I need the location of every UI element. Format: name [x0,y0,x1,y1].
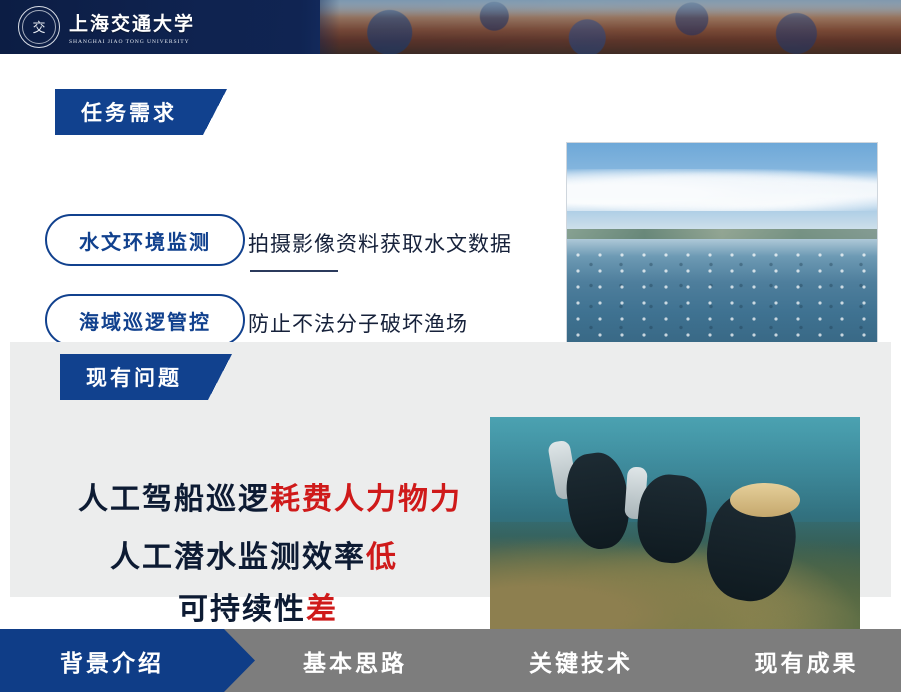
sea-surface-clouds [567,169,877,211]
banner-existing-issues: 现有问题 [60,354,232,400]
footer-step-1-label: 背景介绍 [60,644,164,678]
university-logo: 交 上海交通大学 SHANGHAI JIAO TONG UNIVERSITY [18,6,195,48]
chevron-right-icon-3 [694,629,725,692]
issue-line-1-normal: 人工驾船巡逻 [78,482,270,517]
banner-task-tail-icon [203,89,227,135]
chevron-right-icon-2 [468,629,499,692]
banner-issues-label: 现有问题 [60,354,208,400]
issue-line-2: 人工潜水监测效率低 [110,532,398,576]
desc-divider-1 [250,270,338,272]
slide-header: 交 上海交通大学 SHANGHAI JIAO TONG UNIVERSITY [0,0,901,54]
university-name-cn: 上海交通大学 [69,9,195,36]
seal-glyph: 交 [32,21,45,34]
issue-line-2-highlight: 低 [366,540,398,575]
issue-line-1-highlight: 耗费人力物力 [270,482,462,517]
header-background-photo [320,0,901,54]
university-name-block: 上海交通大学 SHANGHAI JIAO TONG UNIVERSITY [69,9,195,45]
university-name-en: SHANGHAI JIAO TONG UNIVERSITY [69,39,195,45]
desc-sea-patrol: 防止不法分子破坏渔场 [248,308,468,338]
issue-line-1: 人工驾船巡逻耗费人力物力 [78,474,462,518]
footer-step-2-label: 基本思路 [303,644,407,678]
pill-sea-patrol-label: 海域巡逻管控 [79,306,211,335]
slide-body: 任务需求 水文环境监测 拍摄影像资料获取水文数据 海域巡逻管控 防止不法分子破坏… [0,54,901,629]
footer-step-background[interactable]: 背景介绍 [0,629,224,692]
issue-line-3-normal: 可持续性 [178,592,306,627]
issue-line-3: 可持续性差 [178,584,338,628]
banner-task-requirements: 任务需求 [55,89,227,135]
footer-navigation: 背景介绍 基本思路 关键技术 现有成果 [0,629,901,692]
pill-hydrology-label: 水文环境监测 [79,226,211,255]
image-divers-underwater [490,417,860,635]
chevron-right-icon-1 [224,629,255,692]
image-sea-surface [566,142,878,362]
footer-step-approach[interactable]: 基本思路 [224,629,468,692]
footer-step-3-label: 关键技术 [529,644,633,678]
issue-line-2-normal: 人工潜水监测效率 [110,540,366,575]
footer-step-4-label: 现有成果 [755,644,859,678]
desc-hydrology-monitoring: 拍摄影像资料获取水文数据 [248,228,512,258]
sea-surface-shoreline [567,229,877,239]
issue-line-3-highlight: 差 [306,592,338,627]
banner-task-label: 任务需求 [55,89,203,135]
pill-hydrology-monitoring: 水文环境监测 [45,214,245,266]
banner-issues-tail-icon [208,354,232,400]
pill-sea-patrol: 海域巡逻管控 [45,294,245,346]
university-seal-icon: 交 [18,6,60,48]
straw-hat-icon [730,483,800,517]
